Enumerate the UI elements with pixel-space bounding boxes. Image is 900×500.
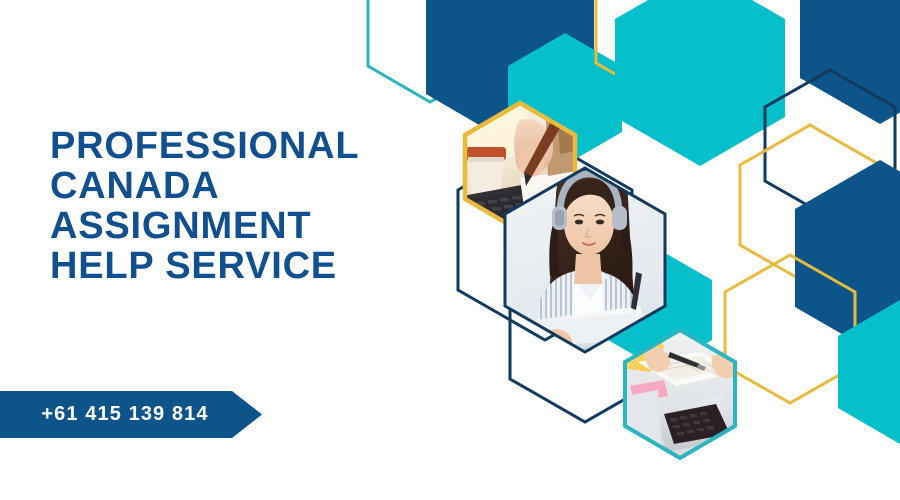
phone-ribbon[interactable]: +61 415 139 814 (0, 391, 262, 438)
promotional-banner: PROFESSIONAL CANADA ASSIGNMENT HELP SERV… (0, 0, 900, 500)
phone-number[interactable]: +61 415 139 814 (0, 391, 232, 438)
